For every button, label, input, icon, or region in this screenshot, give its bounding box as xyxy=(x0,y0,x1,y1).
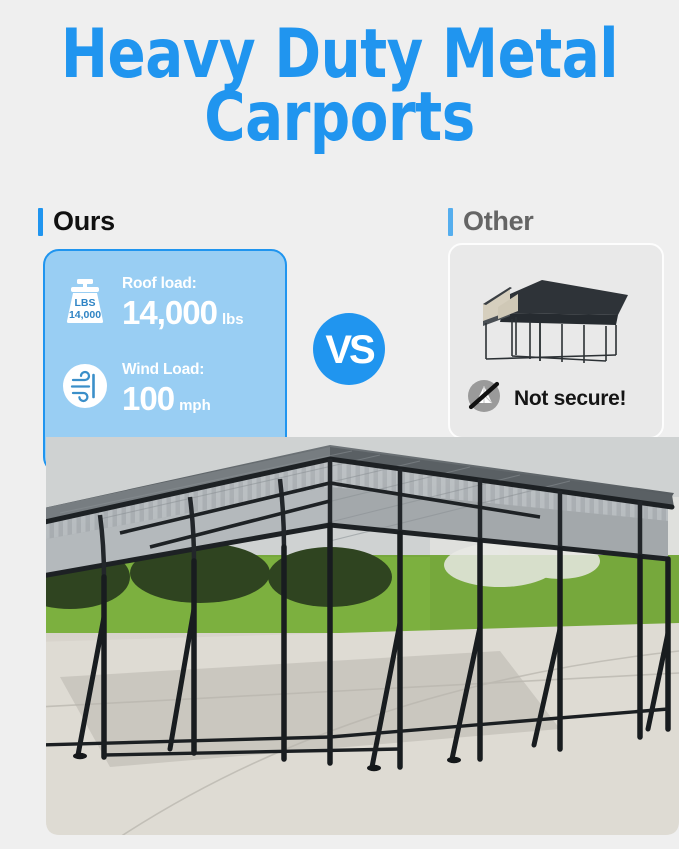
carport-crossed-out-icon xyxy=(464,376,504,421)
spec-wind-load-text: Wind Load: 100 mph xyxy=(122,362,211,415)
infographic-page: Heavy Duty Metal Carports Ours Other LBS… xyxy=(0,0,679,849)
spec-roof-load-text: Roof load: 14,000 lbs xyxy=(122,276,244,329)
ours-section-header: Ours xyxy=(38,206,115,237)
other-section-header: Other xyxy=(448,206,534,237)
spec-roof-load: LBS 14,000 Roof load: 14,000 lbs xyxy=(58,275,244,330)
spec-wind-load-value: 100 xyxy=(122,382,174,415)
versus-badge-label: VS xyxy=(325,328,375,372)
spec-wind-load-value-row: 100 mph xyxy=(122,382,211,415)
ours-heading-label: Ours xyxy=(53,206,115,237)
accent-bar-light-icon xyxy=(448,208,453,236)
title-line-2: Carports xyxy=(27,87,652,150)
spec-roof-load-unit: lbs xyxy=(222,312,244,327)
page-title: Heavy Duty Metal Carports xyxy=(0,24,679,149)
weight-icon-text-top: LBS xyxy=(75,297,96,309)
spec-wind-load: Wind Load: 100 mph xyxy=(58,361,211,416)
not-secure-warning: Not secure! xyxy=(464,376,626,421)
other-comparison-panel: Not secure! xyxy=(448,243,664,439)
accent-bar-icon xyxy=(38,208,43,236)
product-photo xyxy=(0,437,679,837)
spec-roof-load-label: Roof load: xyxy=(122,276,244,292)
not-secure-label: Not secure! xyxy=(514,387,626,411)
other-heading-label: Other xyxy=(463,206,534,237)
competitor-carport-image xyxy=(450,249,664,377)
weight-icon-text-bottom: 14,000 xyxy=(69,309,101,321)
spec-roof-load-value-row: 14,000 lbs xyxy=(122,296,244,329)
spec-wind-load-unit: mph xyxy=(179,398,211,413)
weight-icon: LBS 14,000 xyxy=(58,275,112,330)
spec-wind-load-label: Wind Load: xyxy=(122,362,211,378)
spec-roof-load-value: 14,000 xyxy=(122,296,217,329)
versus-badge: VS xyxy=(313,313,385,385)
wind-icon xyxy=(58,361,112,416)
